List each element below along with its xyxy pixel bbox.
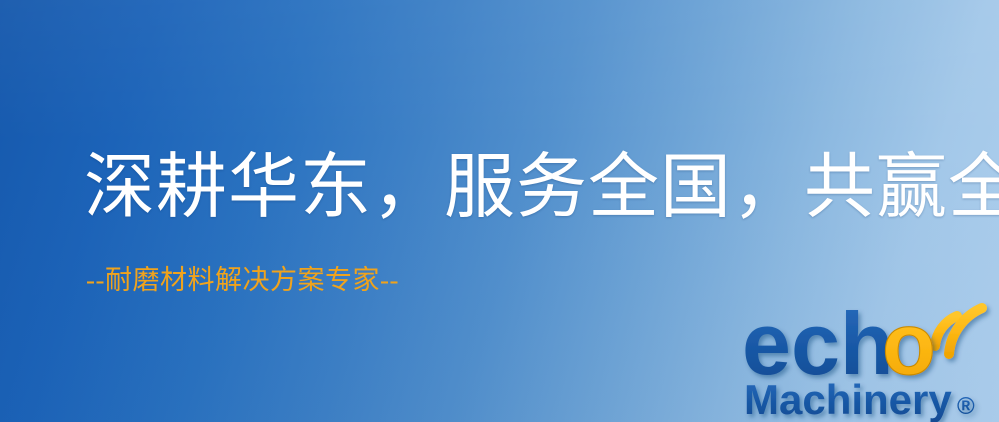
signal-arcs-icon: [935, 308, 982, 354]
logo-tagline: Machinery: [744, 376, 952, 422]
banner-headline: 深耕华东，服务全国，共赢全球: [84, 150, 999, 227]
logo-tagline-group: Machinery ®: [744, 376, 975, 422]
hero-banner: 深耕华东，服务全国，共赢全球 --耐磨材料解决方案专家--: [0, 0, 999, 422]
registered-trademark-icon: ®: [957, 393, 975, 420]
echo-machinery-logo[interactable]: ech o Machinery ®: [742, 296, 999, 422]
banner-subtitle: --耐磨材料解决方案专家--: [86, 264, 399, 296]
